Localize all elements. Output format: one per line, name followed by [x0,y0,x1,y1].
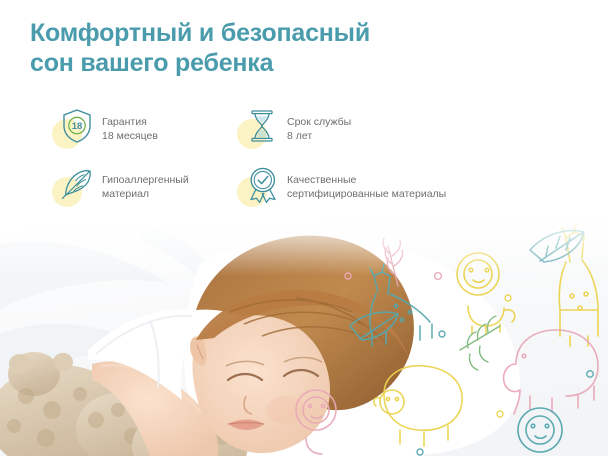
feature-item-warranty: 18 Гарантия 18 месяцев [52,106,237,164]
award-check-icon [237,164,283,210]
hero-photo [0,214,608,456]
page-title: Комфортный и безопасный сон вашего ребен… [30,18,550,78]
hourglass-icon [237,106,283,152]
feature-label: Гарантия 18 месяцев [102,106,158,143]
feature-label: Качественные сертифицированные материалы [287,164,446,201]
feather-icon [52,164,98,210]
feature-label: Срок службы 8 лет [287,106,351,143]
feature-label: Гипоаллергенный материал [102,164,189,201]
shield-18-icon: 18 [52,106,98,152]
feature-item-lifespan: Срок службы 8 лет [237,106,552,164]
feature-list: 18 Гарантия 18 месяцев Срок службы 8 л [52,106,552,222]
promo-banner: Комфортный и безопасный сон вашего ребен… [0,0,608,456]
svg-text:18: 18 [72,121,83,132]
